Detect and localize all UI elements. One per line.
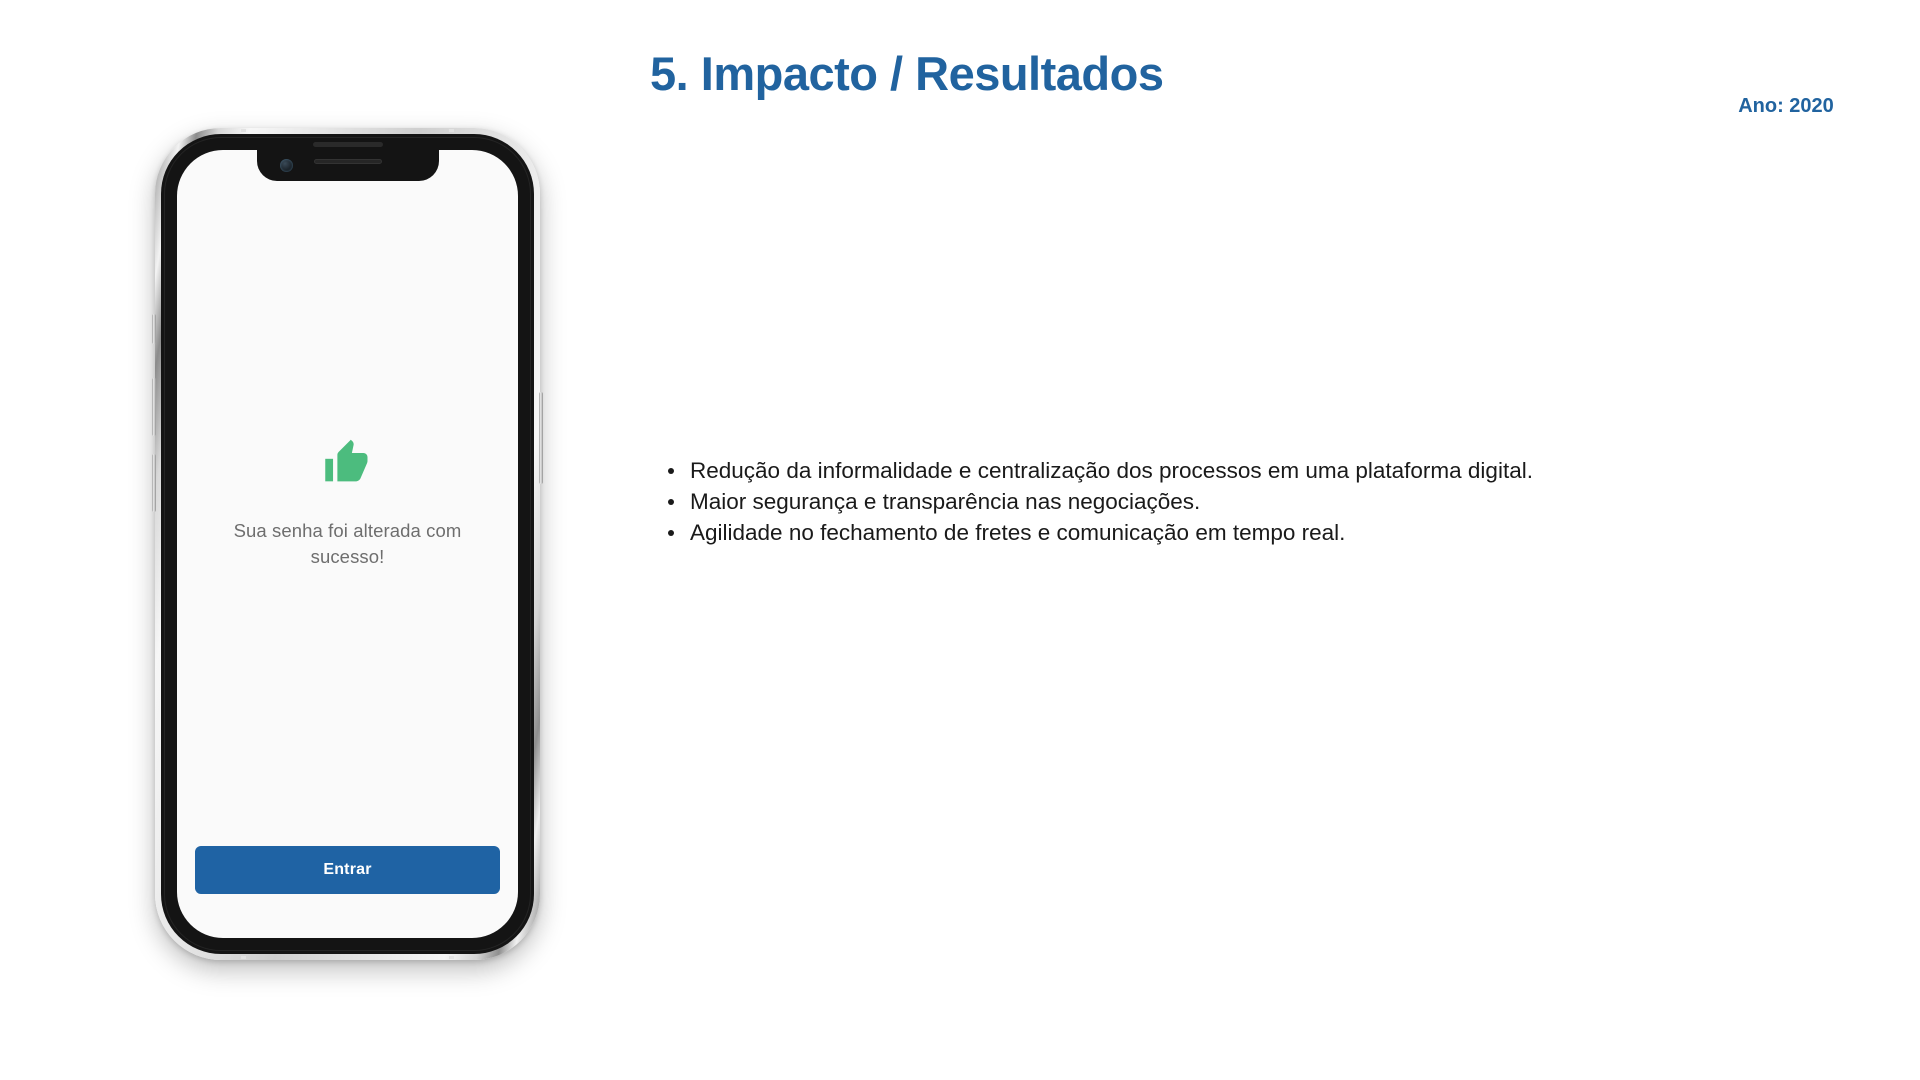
page-title: 5. Impacto / Resultados: [650, 46, 1163, 101]
earpiece-speaker-icon: [313, 142, 383, 147]
phone-screen: Sua senha foi alterada com sucesso! Entr…: [177, 150, 518, 938]
success-message-line1: Sua senha foi alterada: [234, 520, 421, 541]
slide-root: 5. Impacto / Resultados Ano: 2020 Reduçã…: [0, 0, 1920, 1080]
phone-mockup: Sua senha foi alterada com sucesso! Entr…: [155, 128, 540, 960]
antenna-line-icon: [449, 956, 454, 959]
list-item-label: Agilidade no fechamento de fretes e comu…: [690, 520, 1345, 545]
antenna-line-icon: [241, 956, 246, 959]
enter-button[interactable]: Entrar: [195, 846, 500, 894]
volume-up-button[interactable]: [152, 378, 156, 436]
list-item: Redução da informalidade e centralização…: [660, 455, 1760, 486]
bullet-dot-icon: [668, 530, 674, 536]
thumbs-up-icon: [322, 438, 374, 490]
antenna-line-icon: [449, 129, 454, 132]
list-item: Maior segurança e transparência nas nego…: [660, 486, 1760, 517]
success-message-block: Sua senha foi alterada com sucesso!: [177, 438, 518, 570]
phone-body: Sua senha foi alterada com sucesso! Entr…: [161, 134, 534, 954]
year-badge: Ano: 2020: [1738, 95, 1834, 118]
speaker-grille-icon: [314, 159, 382, 164]
list-item-label: Maior segurança e transparência nas nego…: [690, 489, 1200, 514]
mute-switch[interactable]: [152, 314, 156, 344]
list-item: Agilidade no fechamento de fretes e comu…: [660, 517, 1760, 548]
power-button[interactable]: [539, 392, 543, 484]
antenna-line-icon: [241, 129, 246, 132]
success-message-text: Sua senha foi alterada com sucesso!: [213, 518, 483, 570]
phone-notch: [257, 150, 439, 181]
results-bullet-list: Redução da informalidade e centralização…: [660, 455, 1760, 548]
list-item-label: Redução da informalidade e centralização…: [690, 458, 1533, 483]
volume-down-button[interactable]: [152, 454, 156, 512]
front-camera-icon: [280, 159, 293, 172]
bullet-dot-icon: [668, 468, 674, 474]
bullet-dot-icon: [668, 499, 674, 505]
